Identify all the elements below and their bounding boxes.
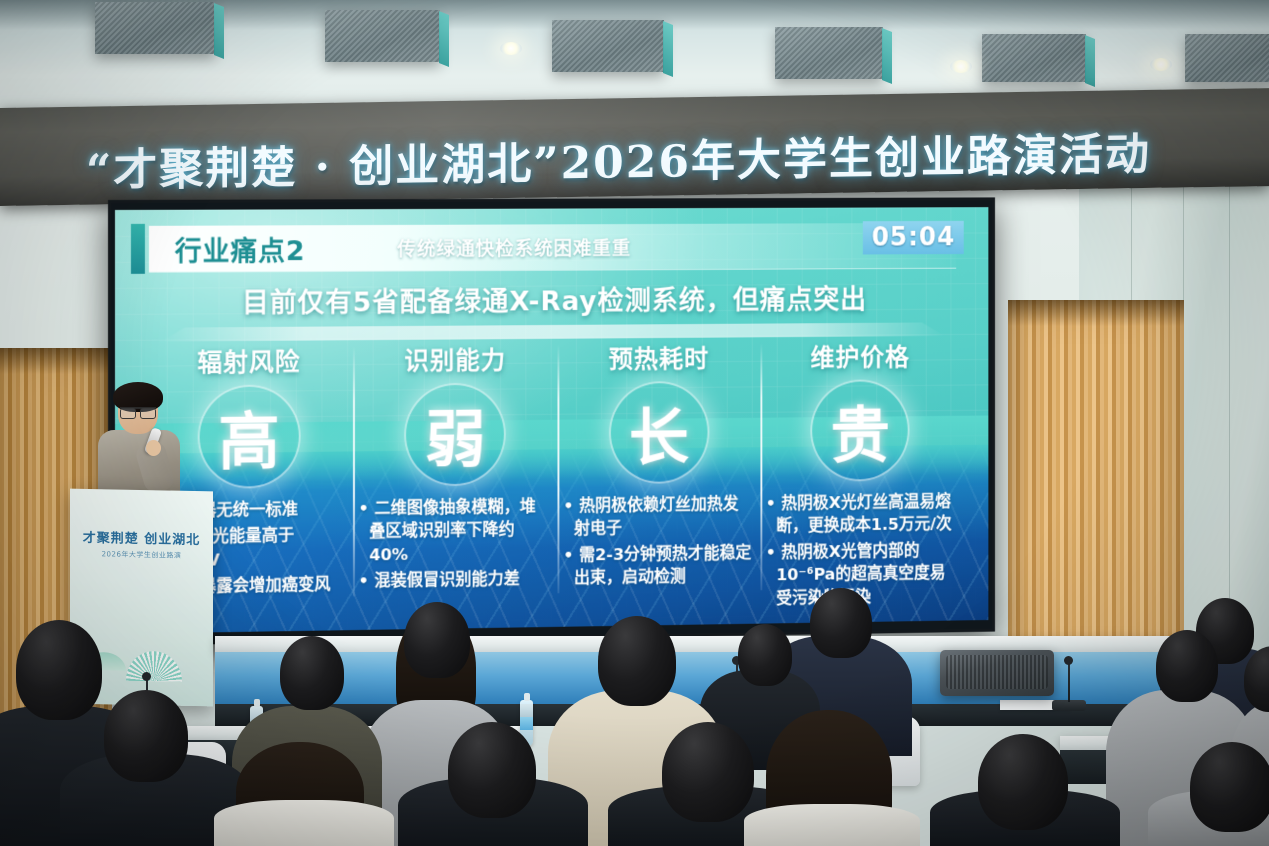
column-glyph: 高 [197,384,300,489]
audience-person [744,804,920,846]
ceiling-vent [325,10,440,62]
lectern-title: 才聚荆楚 创业湖北 [70,527,213,549]
conference-room-photo: “才聚荆楚 · 创业湖北”2026年大学生创业路演活动 行业痛点2 传统绿通快检… [0,0,1269,846]
column-ring: 长 [609,381,710,484]
bullet-item: 热阴极X光灯丝高温易熔断，更换成本1.5万元/次 [766,490,955,538]
column-header: 识别能力 [358,341,551,378]
column-ring: 贵 [811,379,910,482]
audience-head [404,602,470,678]
microphone-head [1064,656,1073,665]
column-ring: 弱 [404,383,506,487]
ceiling-downlight [950,60,972,73]
audience-head [16,620,102,720]
audience-head [448,722,536,818]
audience-head [280,636,344,710]
lectern-fan-graphic [126,651,182,682]
audience-head [1190,742,1269,832]
slide-column: 维护价格 贵 热阴极X光灯丝高温易熔断，更换成本1.5万元/次 热阴极X光管内部… [760,336,960,620]
slide-title-accent-tab [131,224,145,274]
countdown-timer: 05:04 [863,221,964,255]
column-glyph: 弱 [404,383,506,487]
stage-monitor-speaker [940,650,1054,696]
ceiling-downlight [1150,58,1172,71]
audience-person [214,800,394,846]
column-bullets: 热阴极X光灯丝高温易熔断，更换成本1.5万元/次 热阴极X光管内部的10⁻⁶Pa… [766,490,955,610]
bullet-item: 需2-3分钟预热才能稳定出束，启动检测 [563,541,754,590]
microphone-head [142,672,151,681]
audience-head [662,722,754,822]
ceiling-vent [982,34,1086,82]
audience-head [810,588,872,658]
room-background: “才聚荆楚 · 创业湖北”2026年大学生创业路演活动 行业痛点2 传统绿通快检… [0,0,1269,846]
audience-head [1156,630,1218,702]
ceiling-vent [775,27,883,79]
column-bullets: 热阴极依赖灯丝加热发射电子 需2-3分钟预热才能稳定出束，启动检测 [563,492,754,590]
ceiling-vent [1185,34,1269,82]
ceiling-downlight [500,42,522,55]
column-header: 预热耗时 [563,339,754,376]
presenter-hand [146,440,161,456]
presenter [96,382,182,502]
bullet-item: 混装假冒识别能力差 [358,567,551,593]
bullet-item: 热阴极依赖灯丝加热发射电子 [563,492,754,540]
audience-head [738,624,792,686]
presentation-slide: 行业痛点2 传统绿通快检系统困难重重 05:04 目前仅有5省配备绿通X-Ray… [115,207,988,634]
slide-title: 行业痛点2 [175,229,306,268]
slide-columns: 辐射风险 高 传感器无统一标准 阴极X光能量高于160kV 长期暴露会增加癌变风… [145,336,960,630]
bullet-item: 二维图像抽象模糊，堆叠区域识别率下降约40% [358,495,551,567]
judges-table-top [215,636,1215,652]
curtain-right [1008,300,1184,670]
glasses-icon [120,407,156,418]
microphone-stand [1068,660,1070,702]
audience-head [104,690,188,782]
audience-head [978,734,1068,830]
ceiling-vent [552,20,664,72]
projection-screen: 行业痛点2 传统绿通快检系统困难重重 05:04 目前仅有5省配备绿通X-Ray… [108,197,995,646]
column-ring: 高 [197,384,300,489]
slide-column: 识别能力 弱 二维图像抽象模糊，堆叠区域识别率下降约40% 混装假冒识别能力差 [352,339,557,626]
column-header: 维护价格 [766,338,955,375]
column-glyph: 贵 [811,379,910,482]
column-bullets: 二维图像抽象模糊，堆叠区域识别率下降约40% 混装假冒识别能力差 [358,495,551,593]
slide-subheading: 目前仅有5省配备绿通X-Ray检测系统，但痛点突出 [115,277,988,321]
column-glyph: 长 [609,381,710,484]
slide-subtitle: 传统绿通快检系统困难重重 [397,234,631,262]
audience-head [598,616,676,706]
lectern-subtitle: 2026年大学生创业路演 [70,549,213,562]
slide-column: 预热耗时 长 热阴极依赖灯丝加热发射电子 需2-3分钟预热才能稳定出束，启动检测 [557,337,759,623]
column-header: 辐射风险 [151,342,347,379]
ceiling-vent [95,2,215,54]
